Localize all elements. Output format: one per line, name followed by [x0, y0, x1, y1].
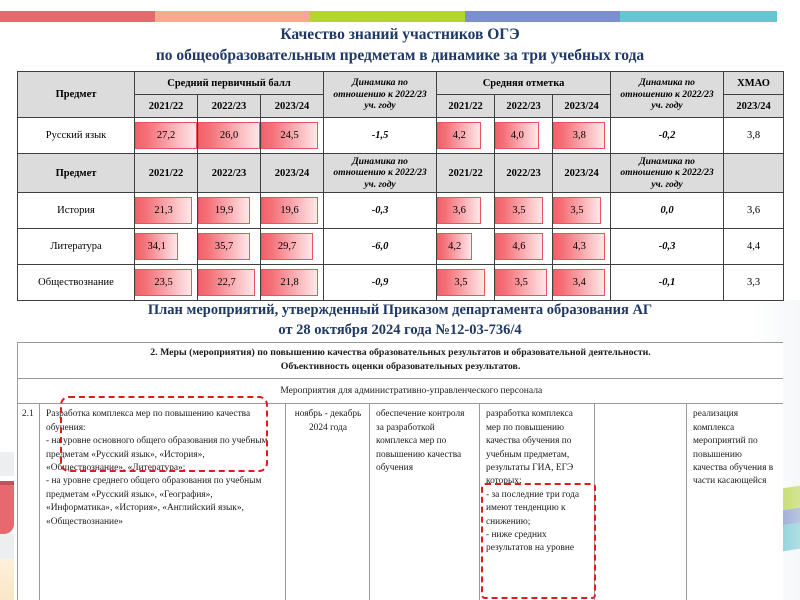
value-bar: 27,2 — [135, 122, 197, 149]
row-mark-2021-22: 3,6 — [437, 193, 495, 229]
row-mark-2021-22: 4,2 — [437, 229, 495, 265]
plan-heading-row: 2. Меры (мероприятия) по повышению качес… — [18, 343, 784, 379]
plan-row-outcome: реализация комплекса мероприятий по повы… — [687, 404, 784, 600]
value-bar: 3,4 — [553, 269, 605, 296]
row-mark-dynamic: -0,1 — [611, 265, 724, 301]
value-bar: 22,7 — [198, 269, 255, 296]
row-primary-dynamic: -0,3 — [324, 193, 437, 229]
header2-region-blank — [724, 154, 784, 193]
row-primary-2023-24: 21,8 — [261, 265, 324, 301]
header-dynamic-primary: Динамика по отношению к 2022/23 уч. году — [324, 72, 437, 118]
header2-year-2022-23-primary: 2022/23 — [198, 154, 261, 193]
row-primary-2022-23: 26,0 — [198, 118, 261, 154]
plan-heading: 2. Меры (мероприятия) по повышению качес… — [18, 343, 784, 379]
plan-heading-line1: 2. Меры (мероприятия) по повышению качес… — [26, 346, 775, 360]
value-bar: 4,0 — [495, 122, 539, 149]
value-bar: 21,3 — [135, 197, 192, 224]
color-bar-segment — [310, 11, 465, 22]
table-row: Русский язык 27,2 26,0 24,5 -1,5 4,2 4,0… — [18, 118, 784, 154]
row-primary-2021-22: 34,1 — [135, 229, 198, 265]
plan-subheading: Мероприятия для административно-управлен… — [40, 379, 784, 404]
header-year-2022-23-primary: 2022/23 — [198, 95, 261, 118]
row-primary-2021-22: 23,5 — [135, 265, 198, 301]
plan-document: 2. Меры (мероприятия) по повышению качес… — [17, 342, 783, 600]
row-primary-2023-24: 24,5 — [261, 118, 324, 154]
row-mark-dynamic: -0,3 — [611, 229, 724, 265]
row-subject: Литература — [18, 229, 135, 265]
value-bar: 21,8 — [261, 269, 318, 296]
table-row: Обществознание 23,5 22,7 21,8 -0,9 3,5 3… — [18, 265, 784, 301]
row-mark-2022-23: 3,5 — [495, 265, 553, 301]
header-year-2023-24-primary: 2023/24 — [261, 95, 324, 118]
page-title-line1: Качество знаний участников ОГЭ — [0, 24, 800, 45]
value-bar: 4,3 — [553, 233, 605, 260]
row-subject: История — [18, 193, 135, 229]
row-subject: Русский язык — [18, 118, 135, 154]
header-year-2021-22-mark: 2021/22 — [437, 95, 495, 118]
header-region: ХМАО — [724, 72, 784, 95]
header-region-year: 2023/24 — [724, 95, 784, 118]
value-bar: 3,5 — [437, 269, 485, 296]
table-row: Литература 34,1 35,7 29,7 -6,0 4,2 4,6 4… — [18, 229, 784, 265]
value-bar: 19,6 — [261, 197, 318, 224]
plan-row-number: 2.1 — [18, 404, 40, 600]
row-mark-2023-24: 4,3 — [553, 229, 611, 265]
row-primary-2023-24: 29,7 — [261, 229, 324, 265]
header2-year-2021-22-mark: 2021/22 — [437, 154, 495, 193]
row-primary-2023-24: 19,6 — [261, 193, 324, 229]
plan-row-measure: Разработка комплекса мер по повышению ка… — [40, 404, 286, 600]
header2-year-2022-23-mark: 2022/23 — [495, 154, 553, 193]
row-region: 3,8 — [724, 118, 784, 154]
color-bar-segment — [155, 11, 310, 22]
row-primary-dynamic: -6,0 — [324, 229, 437, 265]
value-bar: 3,8 — [553, 122, 605, 149]
row-primary-dynamic: -1,5 — [324, 118, 437, 154]
row-primary-2022-23: 35,7 — [198, 229, 261, 265]
page-title: Качество знаний участников ОГЭ по общеоб… — [0, 24, 800, 66]
row-region: 3,3 — [724, 265, 784, 301]
plan-row-blank — [595, 404, 687, 600]
value-bar: 4,6 — [495, 233, 543, 260]
color-bar-segment — [465, 11, 620, 22]
row-subject: Обществознание — [18, 265, 135, 301]
header2-dynamic-primary: Динамика по отношению к 2022/23 уч. году — [324, 154, 437, 193]
value-bar: 34,1 — [135, 233, 178, 260]
row-mark-2021-22: 4,2 — [437, 118, 495, 154]
header-year-2022-23-mark: 2022/23 — [495, 95, 553, 118]
row-mark-2023-24: 3,8 — [553, 118, 611, 154]
table-header-row-1: Предмет Средний первичный балл Динамика … — [18, 72, 784, 95]
color-bar-segment — [0, 11, 155, 22]
plan-table: 2. Меры (мероприятия) по повышению качес… — [17, 342, 783, 600]
plan-heading-line2: Объективность оценки образовательных рез… — [26, 360, 775, 374]
statistics-table: Предмет Средний первичный балл Динамика … — [17, 71, 784, 301]
row-mark-2023-24: 3,5 — [553, 193, 611, 229]
row-primary-2022-23: 22,7 — [198, 265, 261, 301]
header-group-primary: Средний первичный балл — [135, 72, 324, 95]
table-row: 2.1 Разработка комплекса мер по повышени… — [18, 404, 784, 600]
plan-row-period: ноябрь - декабрь 2024 года — [286, 404, 370, 600]
plan-row-control: обеспечение контроля за разработкой комп… — [370, 404, 480, 600]
row-primary-2021-22: 27,2 — [135, 118, 198, 154]
row-mark-dynamic: -0,2 — [611, 118, 724, 154]
color-bar-segment — [620, 11, 777, 22]
header-year-2023-24-mark: 2023/24 — [553, 95, 611, 118]
plan-title: План мероприятий, утвержденный Приказом … — [0, 300, 800, 340]
plan-title-line1: План мероприятий, утвержденный Приказом … — [0, 300, 800, 320]
row-mark-2022-23: 4,6 — [495, 229, 553, 265]
header-dynamic-mark: Динамика по отношению к 2022/23 уч. году — [611, 72, 724, 118]
value-bar: 3,5 — [553, 197, 601, 224]
plan-row-result: разработка комплекса мер по повышению ка… — [480, 404, 595, 600]
plan-title-line2: от 28 октября 2024 года №12-03-736/4 — [0, 320, 800, 340]
header-subject: Предмет — [18, 72, 135, 118]
row-primary-2022-23: 19,9 — [198, 193, 261, 229]
plan-subheading-spacer — [18, 379, 40, 404]
row-mark-2022-23: 4,0 — [495, 118, 553, 154]
header-year-2021-22-primary: 2021/22 — [135, 95, 198, 118]
row-mark-2021-22: 3,5 — [437, 265, 495, 301]
row-region: 4,4 — [724, 229, 784, 265]
header2-dynamic-mark: Динамика по отношению к 2022/23 уч. году — [611, 154, 724, 193]
value-bar: 26,0 — [198, 122, 260, 149]
header2-year-2023-24-primary: 2023/24 — [261, 154, 324, 193]
decorative-color-bar — [0, 11, 800, 22]
value-bar: 4,2 — [437, 122, 481, 149]
row-region: 3,6 — [724, 193, 784, 229]
row-mark-dynamic: 0,0 — [611, 193, 724, 229]
value-bar: 24,5 — [261, 122, 318, 149]
row-primary-2021-22: 21,3 — [135, 193, 198, 229]
value-bar: 19,9 — [198, 197, 250, 224]
value-bar: 23,5 — [135, 269, 192, 296]
value-bar: 29,7 — [261, 233, 313, 260]
row-primary-dynamic: -0,9 — [324, 265, 437, 301]
value-bar: 35,7 — [198, 233, 250, 260]
page-title-line2: по общеобразовательным предметам в динам… — [0, 45, 800, 66]
header-group-mark: Средняя отметка — [437, 72, 611, 95]
plan-subheading-row: Мероприятия для административно-управлен… — [18, 379, 784, 404]
header-subject-2: Предмет — [18, 154, 135, 193]
value-bar: 3,5 — [495, 269, 547, 296]
row-mark-2022-23: 3,5 — [495, 193, 553, 229]
value-bar: 4,2 — [437, 233, 472, 260]
value-bar: 3,5 — [495, 197, 543, 224]
value-bar: 3,6 — [437, 197, 481, 224]
header2-year-2021-22-primary: 2021/22 — [135, 154, 198, 193]
table-row: История 21,3 19,9 19,6 -0,3 3,6 3,5 3,5 … — [18, 193, 784, 229]
row-mark-2023-24: 3,4 — [553, 265, 611, 301]
table-header-row-repeat: Предмет 2021/22 2022/23 2023/24 Динамика… — [18, 154, 784, 193]
decorative-left-shape — [0, 452, 14, 600]
header2-year-2023-24-mark: 2023/24 — [553, 154, 611, 193]
